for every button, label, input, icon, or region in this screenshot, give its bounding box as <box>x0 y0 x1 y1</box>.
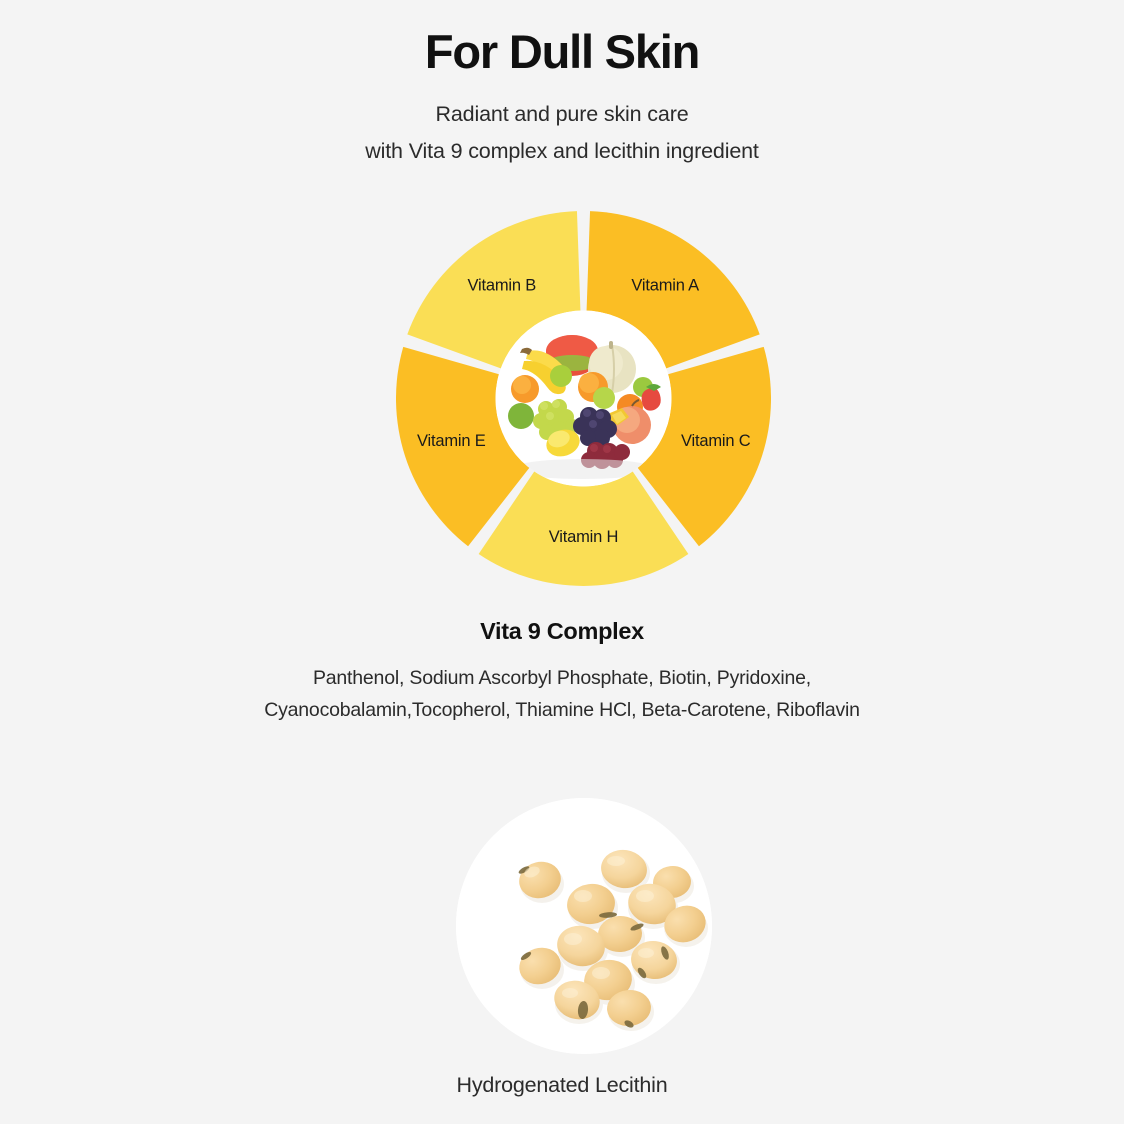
donut-chart-svg: Vitamin A Vitamin B Vitamin C Vitamin E … <box>396 211 771 586</box>
lecithin-circle <box>456 798 712 1054</box>
slice-label-vitamin-h: Vitamin H <box>549 528 618 546</box>
slice-label-vitamin-c: Vitamin C <box>681 432 751 450</box>
subtitle-line-1: Radiant and pure skin care <box>0 96 1124 133</box>
header: For Dull Skin Radiant and pure skin care… <box>0 24 1124 170</box>
slice-label-vitamin-e: Vitamin E <box>417 432 486 450</box>
vita-9-heading: Vita 9 Complex <box>0 618 1124 645</box>
lecithin-image-wrap <box>456 798 712 1054</box>
lecithin-caption: Hydrogenated Lecithin <box>0 1073 1124 1098</box>
page-title: For Dull Skin <box>0 24 1124 79</box>
vitamin-donut-chart: Vitamin A Vitamin B Vitamin C Vitamin E … <box>396 211 771 586</box>
subtitle-block: Radiant and pure skin care with Vita 9 c… <box>0 96 1124 170</box>
product-detail-page: For Dull Skin Radiant and pure skin care… <box>0 0 1124 1124</box>
ingredients-line-2: Cyanocobalamin,Tocopherol, Thiamine HCl,… <box>0 695 1124 727</box>
fruit-pile-photo <box>496 311 672 487</box>
slice-label-vitamin-a: Vitamin A <box>631 276 699 294</box>
soybean-photo <box>456 798 712 1054</box>
subtitle-line-2: with Vita 9 complex and lecithin ingredi… <box>0 133 1124 170</box>
slice-label-vitamin-b: Vitamin B <box>468 276 537 294</box>
vita-9-ingredients: Panthenol, Sodium Ascorbyl Phosphate, Bi… <box>0 663 1124 726</box>
ingredients-line-1: Panthenol, Sodium Ascorbyl Phosphate, Bi… <box>0 663 1124 695</box>
vita-9-complex-section: Vita 9 Complex Panthenol, Sodium Ascorby… <box>0 618 1124 726</box>
